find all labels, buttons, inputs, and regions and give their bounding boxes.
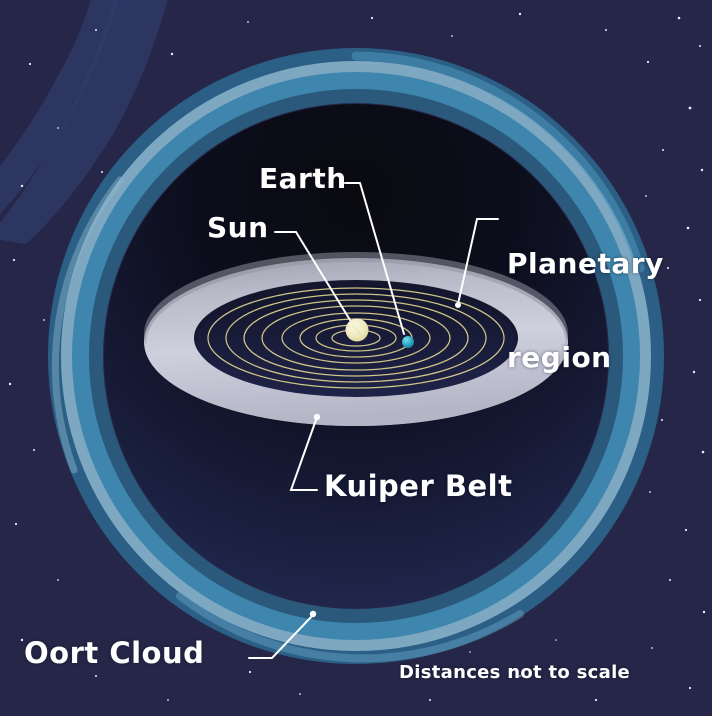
label-planetary-region: Planetary region xyxy=(507,185,664,436)
label-oort-cloud: Oort Cloud xyxy=(24,637,204,669)
sun-body xyxy=(346,319,369,342)
label-planetary-region-line2: region xyxy=(507,342,664,373)
earth-body xyxy=(402,336,414,348)
label-kuiper-belt: Kuiper Belt xyxy=(324,470,512,502)
label-planetary-region-line1: Planetary xyxy=(507,248,664,279)
solar-system-diagram: Earth Sun Planetary region Kuiper Belt O… xyxy=(0,0,712,716)
label-scale-note: Distances not to scale xyxy=(399,663,630,683)
label-earth: Earth xyxy=(259,163,347,194)
label-sun: Sun xyxy=(207,212,269,243)
